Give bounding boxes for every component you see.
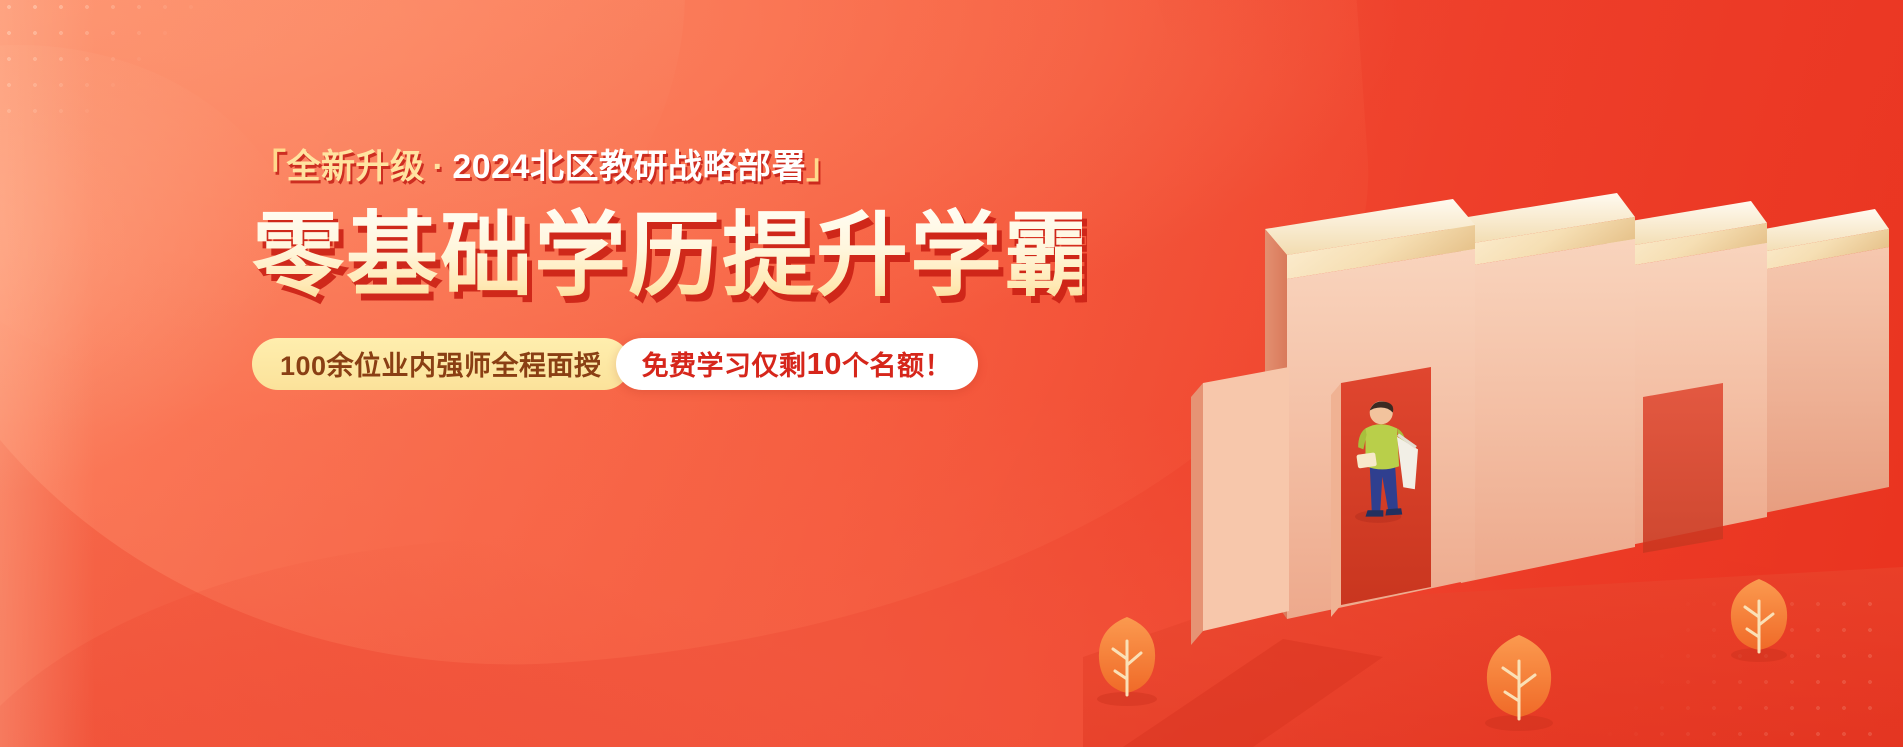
left-edge-glow xyxy=(0,0,95,747)
banner-text-block: 「全新升级·2024北区教研战略部署」 零基础学历提升学霸班 100余位业内强师… xyxy=(252,146,1082,390)
book-arch-1 xyxy=(1191,199,1475,645)
wave-shape-e xyxy=(0,538,1104,747)
teachers-pill: 100余位业内强师全程面授 xyxy=(252,338,630,390)
dot-grid-top-left xyxy=(0,0,206,114)
banner-subtitle: 「全新升级·2024北区教研战略部署」 xyxy=(252,146,1082,189)
banner-pills: 100余位业内强师全程面授 免费学习仅剩10个名额！ xyxy=(252,338,1082,390)
quota-pill-suffix: 个名额！ xyxy=(842,344,952,383)
quota-pill-count: 10 xyxy=(807,346,842,382)
quota-pill[interactable]: 免费学习仅剩10个名额！ xyxy=(616,338,978,390)
open-bracket: 「 xyxy=(252,148,287,186)
banner-headline: 零基础学历提升学霸班 xyxy=(252,205,1082,308)
teachers-pill-label: 100余位业内强师全程面授 xyxy=(280,344,602,383)
promo-banner: 「全新升级·2024北区教研战略部署」 零基础学历提升学霸班 100余位业内强师… xyxy=(0,0,1903,747)
book-archway-illustration xyxy=(1083,187,1903,747)
close-bracket: 」 xyxy=(806,148,841,186)
subtitle-separator: · xyxy=(433,148,445,186)
quota-pill-prefix: 免费学习仅剩 xyxy=(642,344,807,383)
subtitle-rest: 2024北区教研战略部署 xyxy=(452,148,806,186)
subtitle-highlight: 全新升级 xyxy=(287,148,425,186)
